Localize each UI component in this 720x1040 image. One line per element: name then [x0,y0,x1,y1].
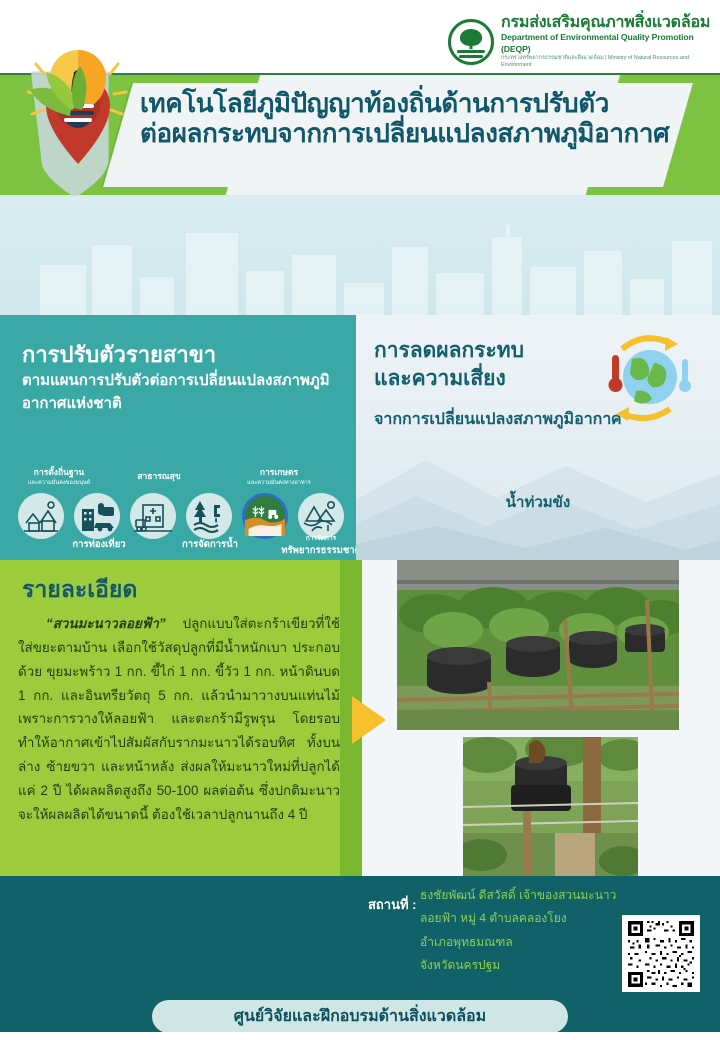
hanging-basket-closeup-photo [463,737,638,877]
location-line-2: อำเภอพุทธมณฑล [420,931,620,954]
mitigation-panel: การลดผลกระทบ และความเสี่ยง จากการเปลี่ยน… [356,315,720,560]
mitigation-heading-line2: และความเสี่ยง [374,365,524,393]
technology-name-band: ชื่อเทคโนโลยี : “สวนมะนาวลอยฟ้า” หนีน้ำท… [0,195,720,315]
details-body: “สวนมะนาวลอยฟ้า” ปลูกแบบใส่ตะกร้าเขียวที… [18,612,340,827]
adaptation-subheading: ตามแผนการปรับตัวต่อการเปลี่ยนแปลงสภาพภูม… [22,370,342,415]
footer-pill: ศูนย์วิจัยและฝึกอบรมด้านสิ่งแวดล้อม [152,1000,568,1033]
details-panel: รายละเอียด “สวนมะนาวลอยฟ้า” ปลูกแบบใส่ตะ… [0,560,356,920]
footer-white-strip [0,1032,720,1040]
details-text: ปลูกแบบใส่ตะกร้าเขียวที่ใช้ใส่ขยะตามบ้าน… [18,616,340,822]
city-skyline-decoration [0,225,720,315]
risk-label: น้ำท่วมขัง [356,490,720,514]
sector-label-4: การเกษตร และความมั่นคงทางอาหาร [224,465,334,487]
sector-icon-water-management-tap-river-icon[interactable] [186,493,232,539]
deqp-tree-seal-icon [448,19,494,65]
poster-root: กรมส่งเสริมคุณภาพสิ่งแวดล้อม Department … [0,0,720,1040]
sector-label-3: การจัดการน้ำ [158,537,262,552]
details-heading: รายละเอียด [22,572,137,608]
page-title-line2: ต่อผลกระทบจากการเปลี่ยนแปลงสภาพภูมิอากาศ [140,118,700,148]
adaptation-heading: การปรับตัวรายสาขา [22,337,216,372]
sector-label-2: สาธารณสุข [112,469,206,483]
sector-icon-settlement-houses-icon[interactable] [18,493,64,539]
sector-icon-tourism-city-car-icon[interactable] [74,493,120,539]
org-name-english: Department of Environmental Quality Prom… [501,32,720,54]
page-title: เทคโนโลยีภูมิปัญญาท้องถิ่นด้านการปรับตัว… [140,88,700,148]
location-label: สถานที่ : [368,894,417,915]
location-line-0: ธงชัยพัฒน์ ดีสวัสดิ์ เจ้าของสวนมะนาว [420,884,620,907]
mitigation-subheading: จากการเปลี่ยนแปลงสภาพภูมิอากาศ [374,407,622,432]
page-title-line1: เทคโนโลยีภูมิปัญญาท้องถิ่นด้านการปรับตัว [140,88,700,118]
sector-label-5: การจัดการ ทรัพยากรธรรมชาติ [266,533,356,558]
mitigation-heading: การลดผลกระทบ และความเสี่ยง [374,337,524,394]
deqp-logo: กรมส่งเสริมคุณภาพสิ่งแวดล้อม Department … [448,14,720,69]
sector-label-0: การตั้งถิ่นฐาน และความมั่นคงของมนุษย์ [4,465,114,487]
sector-label-1: การท่องเที่ยว [44,537,154,552]
yellow-arrow-icon [352,696,386,744]
sector-icon-public-health-hospital-icon[interactable] [130,493,176,539]
ministry-name: กระทรวงทรัพยากรธรรมชาติและสิ่งแวดล้อม | … [501,55,720,70]
location-bar-left [0,876,356,992]
details-lead: “สวนมะนาวลอยฟ้า” [46,616,166,631]
qr-code-icon[interactable] [622,915,700,993]
adaptation-panel: การปรับตัวรายสาขา ตามแผนการปรับตัวต่อการ… [0,315,356,560]
globe-thermometer-cycle-icon [592,333,702,425]
location-value: ธงชัยพัฒน์ ดีสวัสดิ์ เจ้าของสวนมะนาว ลอย… [420,884,620,978]
org-name-thai: กรมส่งเสริมคุณภาพสิ่งแวดล้อม [501,14,720,32]
location-line-1: ลอยฟ้า หมู่ 4 ตำบลคลองโยง [420,907,620,930]
sector-icon-row: การตั้งถิ่นฐาน และความมั่นคงของมนุษย์ [8,467,356,555]
mitigation-heading-line1: การลดผลกระทบ [374,337,524,365]
location-line-3: จังหวัดนครปฐม [420,954,620,977]
lime-trees-in-baskets-photo [397,560,679,730]
lightbulb-leaf-map-pin-icon [18,48,138,198]
